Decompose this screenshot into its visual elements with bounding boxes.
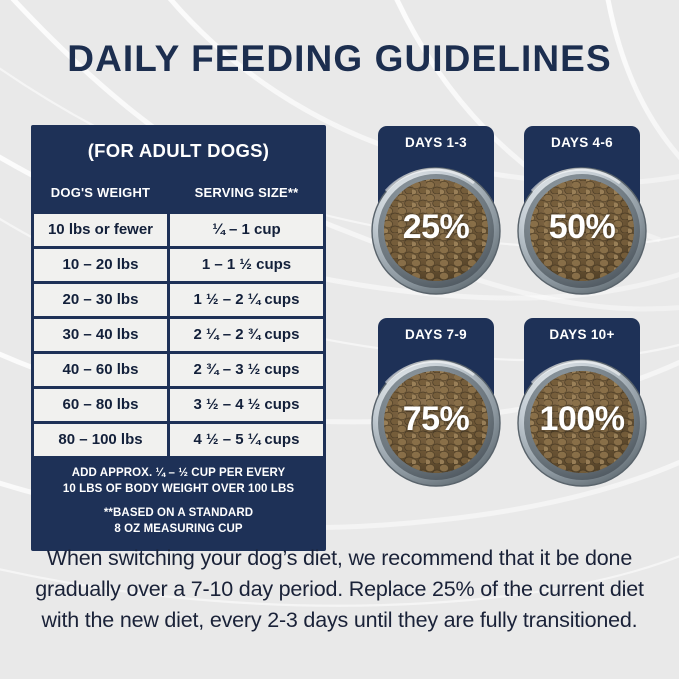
- cell-weight: 10 – 20 lbs: [34, 249, 167, 281]
- footer-line-2: 10 LBS OF BODY WEIGHT OVER 100 LBS: [40, 482, 317, 498]
- footer-line-1: ADD APPROX. ¼ – ½ CUP PER EVERY: [40, 466, 317, 482]
- cell-serving: 1 – 1 ½ cups: [170, 249, 323, 281]
- note-line-1: When switching your dog’s diet, we recom…: [34, 543, 645, 574]
- page-title: DAILY FEEDING GUIDELINES: [0, 38, 679, 80]
- cell-weight: 60 – 80 lbs: [34, 389, 167, 421]
- card-days-label: DAYS 1-3: [378, 126, 494, 150]
- cell-weight: 20 – 30 lbs: [34, 284, 167, 316]
- transition-card-days-7-9: DAYS 7-9 75%: [378, 318, 494, 490]
- cell-serving: ¼ – 1 cup: [170, 214, 323, 246]
- transition-card-days-4-6: DAYS 4-6 50%: [524, 126, 640, 298]
- transition-instructions: When switching your dog’s diet, we recom…: [34, 543, 645, 637]
- note-line-2: gradually over a 7-10 day period. Replac…: [34, 574, 645, 605]
- cell-serving: 2 ¾ – 3 ½ cups: [170, 354, 323, 386]
- table-row: 80 – 100 lbs 4 ½ – 5 ¼ cups: [34, 424, 323, 456]
- dog-bowl-icon: [356, 347, 516, 491]
- cell-serving: 2 ¼ – 2 ¾ cups: [170, 319, 323, 351]
- cell-weight: 10 lbs or fewer: [34, 214, 167, 246]
- table-row: 10 lbs or fewer ¼ – 1 cup: [34, 214, 323, 246]
- column-header-weight: DOG'S WEIGHT: [34, 175, 167, 211]
- table-row: 40 – 60 lbs 2 ¾ – 3 ½ cups: [34, 354, 323, 386]
- table-footer: ADD APPROX. ¼ – ½ CUP PER EVERY 10 LBS O…: [34, 456, 323, 548]
- table-header-row: DOG'S WEIGHT SERVING SIZE**: [34, 175, 323, 211]
- table-title: (FOR ADULT DOGS): [34, 128, 323, 175]
- dog-bowl-icon: [502, 347, 662, 491]
- table-row: 30 – 40 lbs 2 ¼ – 2 ¾ cups: [34, 319, 323, 351]
- column-header-serving: SERVING SIZE**: [170, 175, 323, 211]
- transition-card-days-1-3: DAYS 1-3: [378, 126, 494, 298]
- cell-weight: 30 – 40 lbs: [34, 319, 167, 351]
- footer-note-2: 8 OZ MEASURING CUP: [40, 522, 317, 538]
- table-row: 60 – 80 lbs 3 ½ – 4 ½ cups: [34, 389, 323, 421]
- card-days-label: DAYS 10+: [524, 318, 640, 342]
- dog-bowl-icon: [356, 155, 516, 299]
- feeding-guidelines-table: (FOR ADULT DOGS) DOG'S WEIGHT SERVING SI…: [31, 125, 326, 551]
- dog-bowl-icon: [502, 155, 662, 299]
- cell-serving: 1 ½ – 2 ¼ cups: [170, 284, 323, 316]
- card-days-label: DAYS 4-6: [524, 126, 640, 150]
- cell-serving: 4 ½ – 5 ¼ cups: [170, 424, 323, 456]
- table-row: 20 – 30 lbs 1 ½ – 2 ¼ cups: [34, 284, 323, 316]
- table-row: 10 – 20 lbs 1 – 1 ½ cups: [34, 249, 323, 281]
- cell-weight: 40 – 60 lbs: [34, 354, 167, 386]
- cell-weight: 80 – 100 lbs: [34, 424, 167, 456]
- cell-serving: 3 ½ – 4 ½ cups: [170, 389, 323, 421]
- note-line-3: with the new diet, every 2-3 days until …: [34, 605, 645, 636]
- card-days-label: DAYS 7-9: [378, 318, 494, 342]
- transition-card-days-10-plus: DAYS 10+ 100%: [524, 318, 640, 490]
- footer-note-1: **BASED ON A STANDARD: [40, 506, 317, 522]
